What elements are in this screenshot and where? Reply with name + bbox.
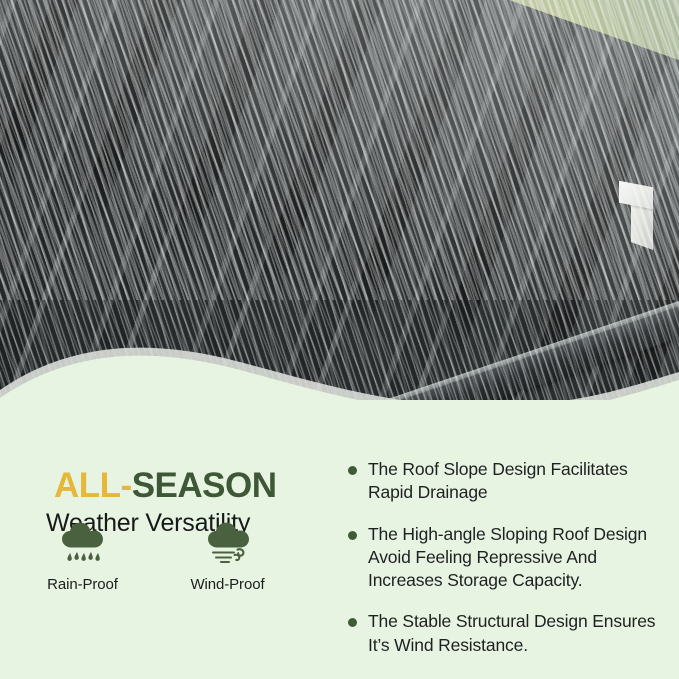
- list-item: The Stable Structural Design Ensures It’…: [348, 610, 658, 657]
- headline-part-2: SEASON: [132, 466, 277, 505]
- benefits-list: The Roof Slope Design Facilitates Rapid …: [348, 458, 658, 675]
- feature-label-wind-proof: Wind-Proof: [175, 576, 280, 593]
- rain-cloud-icon: [30, 518, 135, 570]
- bullet-text: The Stable Structural Design Ensures It’…: [368, 610, 658, 657]
- roof-slat-gaps: [0, 0, 679, 452]
- bullet-text: The High-angle Sloping Roof Design Avoid…: [368, 523, 658, 593]
- content-panel: ALL-SEASON Weather Versatility: [0, 400, 679, 679]
- feature-rain-proof: Rain-Proof: [30, 518, 135, 593]
- feature-wind-proof: Wind-Proof: [175, 518, 280, 593]
- list-item: The Roof Slope Design Facilitates Rapid …: [348, 458, 658, 505]
- bullet-text: The Roof Slope Design Facilitates Rapid …: [368, 458, 658, 505]
- page-title: ALL-SEASON: [54, 468, 330, 503]
- infographic-canvas: ALL-SEASON Weather Versatility: [0, 0, 679, 679]
- hero-photo: [0, 0, 679, 452]
- headline-part-1: ALL-: [54, 466, 132, 505]
- list-item: The High-angle Sloping Roof Design Avoid…: [348, 523, 658, 593]
- bullet-dot-icon: [348, 466, 357, 475]
- feature-label-rain-proof: Rain-Proof: [30, 576, 135, 593]
- wind-cloud-icon: [175, 518, 280, 570]
- feature-badges: Rain-Proof: [30, 518, 280, 593]
- bullet-dot-icon: [348, 618, 357, 627]
- bullet-dot-icon: [348, 531, 357, 540]
